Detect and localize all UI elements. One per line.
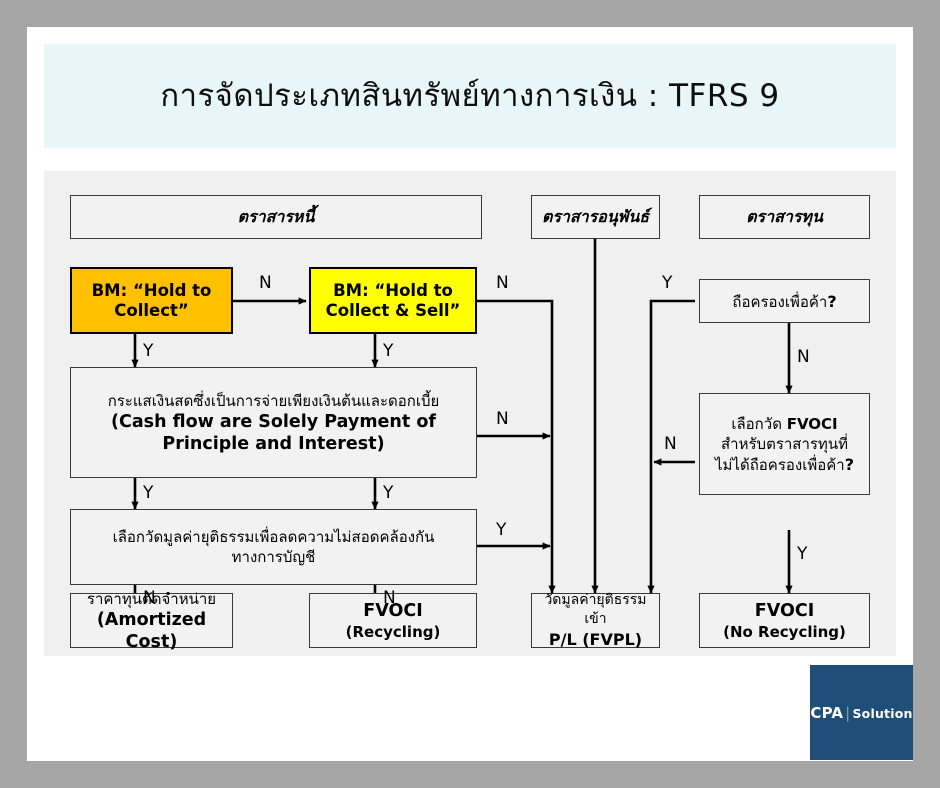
node-fvoci-no-recycling[interactable]: FVOCI (No Recycling): [699, 593, 870, 648]
fvoci-emphasis: FVOCI: [787, 415, 838, 433]
question-mark: ?: [827, 292, 836, 311]
node-sppi-test[interactable]: กระแสเงินสดซึ่งเป็นการจ่ายเพียงเงินต้นแล…: [70, 367, 477, 478]
node-fvpl[interactable]: วัดมูลค่ายุติธรรมเข้า P/L (FVPL): [531, 593, 660, 648]
header-debt-instruments: ตราสารหนี้: [70, 195, 482, 239]
node-label-english: (No Recycling): [723, 622, 846, 642]
header-label: ตราสารทุน: [746, 205, 823, 230]
edge-label-hft-down: N: [797, 349, 810, 366]
node-label-english: P/L (FVPL): [549, 629, 642, 650]
edge-label-htc-to-htcs: N: [259, 275, 272, 292]
node-label: BM: “Hold to Collect & Sell”: [315, 281, 471, 321]
edge-label-election-left: N: [664, 436, 677, 453]
node-label-line2: สำหรับตราสารทุนที่: [721, 434, 848, 454]
node-label-line3: ไม่ได้ถือครองเพื่อค้า?: [715, 454, 854, 475]
header-label: ตราสารอนุพันธ์: [542, 205, 649, 230]
node-fvoci-election[interactable]: เลือกวัด FVOCI สำหรับตราสารทุนที่ ไม่ได้…: [699, 393, 870, 495]
flowchart-panel: ตราสารหนี้ ตราสารอนุพันธ์ ตราสารทุน BM: …: [44, 171, 896, 656]
logo-main: CPA: [810, 704, 843, 722]
slide-title-band: การจัดประเภทสินทรัพย์ทางการเงิน : TFRS 9: [44, 44, 896, 148]
node-label-line1: เลือกวัดมูลค่ายุติธรรมเพื่อลดความไม่สอดค…: [113, 527, 435, 547]
node-label-english: (Amortized Cost): [75, 609, 228, 653]
page-title: การจัดประเภทสินทรัพย์ทางการเงิน : TFRS 9: [136, 73, 803, 119]
edge-label-fvopt-down-right: N: [383, 590, 396, 607]
edge-label-sppi-down-right: Y: [383, 485, 393, 502]
node-held-for-trading[interactable]: ถือครองเพื่อค้า?: [699, 279, 870, 323]
node-label: ถือครองเพื่อค้า?: [732, 291, 836, 312]
node-hold-to-collect[interactable]: BM: “Hold to Collect”: [70, 267, 233, 334]
node-hold-to-collect-and-sell[interactable]: BM: “Hold to Collect & Sell”: [309, 267, 477, 334]
node-label: BM: “Hold to Collect”: [76, 281, 227, 321]
node-fair-value-option[interactable]: เลือกวัดมูลค่ายุติธรรมเพื่อลดความไม่สอดค…: [70, 509, 477, 585]
node-label-line1: เลือกวัด FVOCI: [731, 414, 837, 434]
edge-label-htcs-right: N: [496, 275, 509, 292]
edge-label-hft-left: Y: [662, 275, 672, 292]
edge-label-fvopt-down-left: N: [143, 590, 156, 607]
node-label-thai: FVOCI: [755, 600, 814, 622]
node-label-thai: กระแสเงินสดซึ่งเป็นการจ่ายเพียงเงินต้นแล…: [108, 391, 440, 411]
question-mark: ?: [845, 455, 854, 474]
cpa-solution-logo: CPA|Solution: [810, 665, 913, 760]
logo-text: CPA|Solution: [810, 704, 912, 722]
edge-label-htcs-down: Y: [383, 343, 393, 360]
edge-label-election-down: Y: [797, 546, 807, 563]
node-label-line2: ทางการบัญชี: [232, 547, 316, 567]
slide-canvas: การจัดประเภทสินทรัพย์ทางการเงิน : TFRS 9: [27, 27, 913, 761]
node-label-thai: วัดมูลค่ายุติธรรมเข้า: [536, 591, 655, 629]
node-label-english: (Recycling): [346, 622, 441, 642]
edge-label-htc-down: Y: [143, 343, 153, 360]
node-label-english: (Cash flow are Solely Payment of Princip…: [75, 411, 472, 455]
header-label: ตราสารหนี้: [238, 205, 315, 230]
edge-label-fvopt-right: Y: [496, 522, 506, 539]
header-equity-instruments: ตราสารทุน: [699, 195, 870, 239]
edge-label-sppi-right: N: [496, 411, 509, 428]
logo-separator: |: [843, 704, 852, 722]
header-derivatives: ตราสารอนุพันธ์: [531, 195, 660, 239]
edge-label-sppi-down-left: Y: [143, 485, 153, 502]
logo-sub: Solution: [852, 706, 912, 721]
